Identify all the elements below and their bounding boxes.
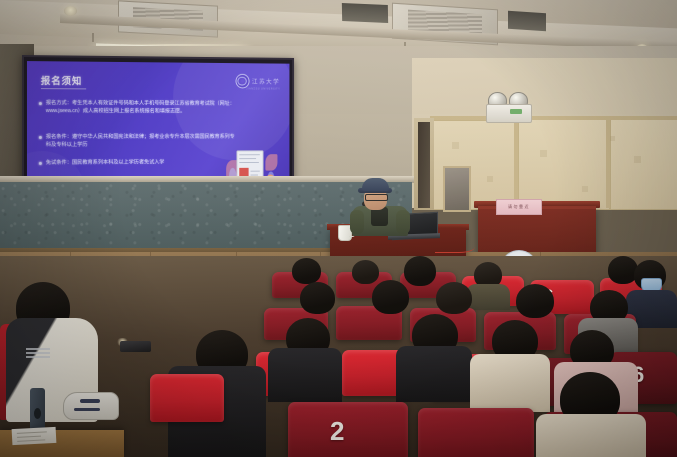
seat-post-hole — [34, 408, 41, 419]
door-window — [443, 166, 471, 212]
audience-body — [536, 414, 646, 457]
stage-edge-device — [120, 341, 151, 352]
wall-panel-c — [610, 117, 677, 210]
ceiling-hanger-1 — [92, 33, 94, 42]
audience-area: 6 4 6 — [0, 256, 677, 457]
university-seal-icon — [235, 74, 249, 89]
jacket-logo — [26, 348, 50, 358]
glasses-icon — [365, 194, 388, 201]
university-logo-subtext: JIANGSU UNIVERSITY — [246, 87, 280, 90]
wall-panel-divider-1 — [514, 118, 518, 208]
panel-motif-2 — [487, 176, 493, 182]
handout-paper — [12, 427, 57, 445]
presenter — [352, 178, 408, 234]
university-logo: 江苏大学 — [235, 74, 280, 89]
audience-head — [352, 260, 379, 284]
wall-panel-b — [518, 118, 610, 210]
audience-body — [268, 348, 342, 402]
audience-head — [404, 256, 436, 286]
audience-head — [436, 282, 472, 314]
seat — [150, 374, 224, 422]
podium-sign: 请勿靠近 — [496, 199, 542, 215]
panel-motif-4 — [582, 186, 588, 192]
bullet-dot-icon — [39, 162, 42, 165]
seat: 2 — [288, 402, 408, 457]
audience-body — [396, 346, 472, 402]
bullet-dot-icon — [39, 136, 42, 139]
shoe — [63, 392, 119, 420]
slide-bullet-1: 报名方式：考生凭本人有效证件号码和本人手机号码登录江苏省教育考试院（网址：www… — [46, 99, 239, 116]
wall-panel-rail — [430, 116, 677, 120]
slide-bullet-3: 免试条件：国民教育系列本科及以上学历者免试入学 — [46, 158, 220, 167]
panel-motif-6 — [610, 136, 615, 141]
podium-sign-text: 请勿靠近 — [508, 204, 530, 210]
audience-head — [292, 258, 321, 284]
doorway — [418, 122, 430, 208]
power-cable — [435, 238, 475, 253]
seat — [418, 408, 534, 457]
audience-head — [372, 280, 409, 314]
ceiling-vent-slot-1 — [342, 3, 388, 23]
audience-head — [300, 282, 335, 314]
slide-title-underline — [41, 88, 86, 89]
wall-panel-divider-2 — [606, 117, 610, 208]
lecture-hall-photo: 报名须知 江苏大学 JIANGSU UNIVERSITY 报名方式：考生凭本人有… — [0, 0, 677, 457]
audience-body — [466, 284, 510, 310]
university-logo-text: 江苏大学 — [252, 77, 280, 86]
bullet-dot-icon — [39, 102, 42, 105]
seat-number: 2 — [330, 416, 344, 447]
panel-motif-5 — [634, 156, 641, 163]
panel-motif-1 — [452, 142, 459, 149]
ceiling-downlight-1 — [64, 6, 77, 16]
slide-title: 报名须知 — [41, 73, 82, 87]
emergency-light — [484, 92, 532, 122]
audience-head — [516, 284, 554, 318]
ceiling-vent-slot-2 — [508, 11, 546, 31]
cap — [362, 178, 389, 191]
slide-bullet-2: 报名条件：遵守中华人民共和国宪法和法律；报考业余专升本层次需国民教育系列专科及专… — [46, 133, 239, 149]
panel-motif-3 — [540, 150, 547, 157]
audience-body — [470, 354, 550, 412]
